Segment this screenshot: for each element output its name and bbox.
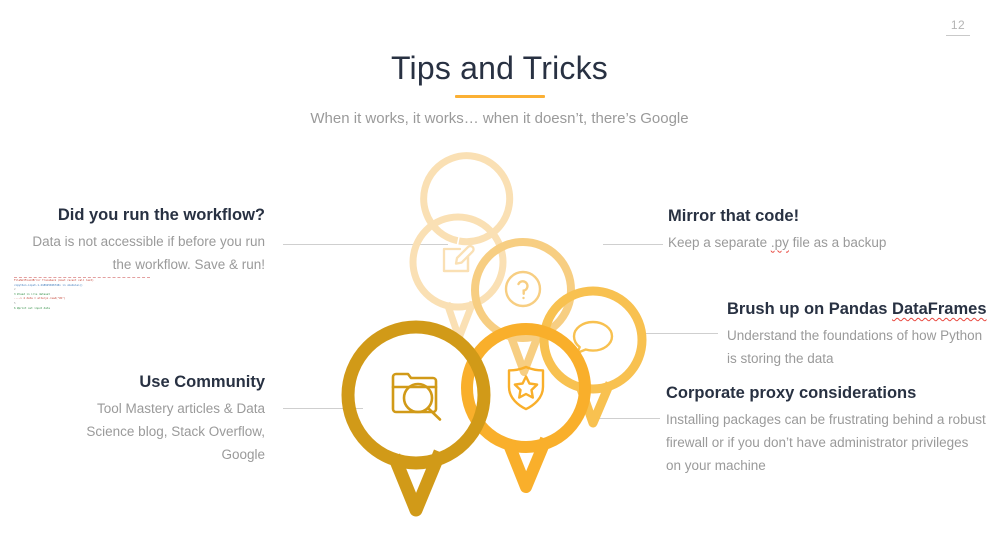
title-underline-accent [455, 95, 545, 98]
callout-community: Use Community Tool Mastery articles & Da… [60, 372, 265, 466]
page-number-value: 12 [951, 18, 965, 32]
page-subtitle: When it works, it works… when it doesn’t… [0, 110, 999, 127]
pencil-edit-icon [444, 246, 474, 271]
callout-mirror-body-pre: Keep a separate [668, 235, 771, 250]
folder-search-icon [393, 374, 440, 420]
callout-mirror-body: Keep a separate .py file as a backup [668, 231, 898, 254]
question-mark-icon [506, 272, 540, 306]
callout-mirror-body-post: file as a backup [789, 235, 887, 250]
callout-pandas-heading: Brush up on Pandas DataFrames [727, 299, 989, 320]
callout-proxy-body: Installing packages can be frustrating b… [666, 408, 986, 478]
callout-proxy: Corporate proxy considerations Installin… [666, 383, 986, 477]
page-number-rule [946, 35, 970, 36]
callout-mirror-heading: Mirror that code! [668, 206, 898, 227]
callout-pandas-body: Understand the foundations of how Python… [727, 324, 989, 370]
page-title: Tips and Tricks [0, 50, 999, 87]
callout-proxy-heading: Corporate proxy considerations [666, 383, 986, 404]
chat-bubble-icon [574, 322, 612, 353]
callout-mirror: Mirror that code! Keep a separate .py fi… [668, 206, 898, 254]
bubble-folder [348, 327, 484, 510]
callout-workflow: Did you run the workflow? Data is not ac… [20, 205, 265, 276]
bubble-cluster [330, 195, 660, 525]
callout-pandas-heading-misspelled: DataFrames [892, 300, 986, 318]
python-traceback-screenshot: FileNotFoundError Traceback (most recent… [14, 277, 150, 327]
callout-community-body: Tool Mastery articles & Data Science blo… [60, 397, 265, 467]
callout-workflow-body: Data is not accessible if before you run… [20, 230, 265, 276]
slide-canvas: 12 Tips and Tricks When it works, it wor… [0, 0, 999, 560]
callout-community-heading: Use Community [60, 372, 265, 393]
callout-mirror-body-misspelled: .py [771, 235, 789, 250]
callout-workflow-heading: Did you run the workflow? [20, 205, 265, 226]
callout-pandas: Brush up on Pandas DataFrames Understand… [727, 299, 989, 370]
page-number: 12 [943, 18, 973, 36]
callout-pandas-heading-pre: Brush up on Pandas [727, 300, 892, 318]
code-line: 6 #print out input data [14, 307, 150, 312]
bubble-chat [544, 291, 642, 423]
